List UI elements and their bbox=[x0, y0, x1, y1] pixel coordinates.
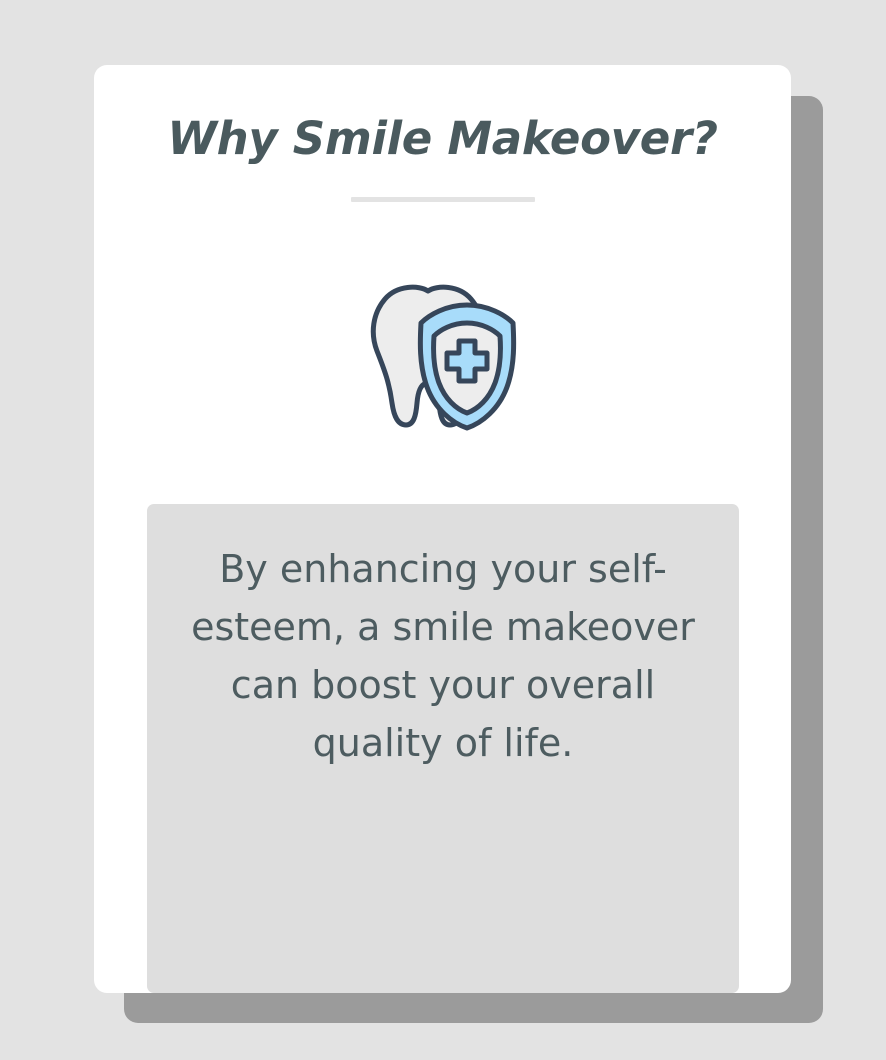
info-card: Why Smile Makeover? By enhancing your se… bbox=[94, 65, 791, 993]
page-title: Why Smile Makeover? bbox=[94, 112, 791, 165]
title-divider bbox=[351, 197, 535, 202]
body-text: By enhancing your self-esteem, a smile m… bbox=[167, 540, 719, 772]
tooth-shield-icon bbox=[353, 265, 533, 440]
slide-canvas: Why Smile Makeover? By enhancing your se… bbox=[0, 0, 886, 1060]
tooth-shield-icon-graphic bbox=[353, 265, 533, 440]
body-text-panel: By enhancing your self-esteem, a smile m… bbox=[147, 504, 739, 993]
